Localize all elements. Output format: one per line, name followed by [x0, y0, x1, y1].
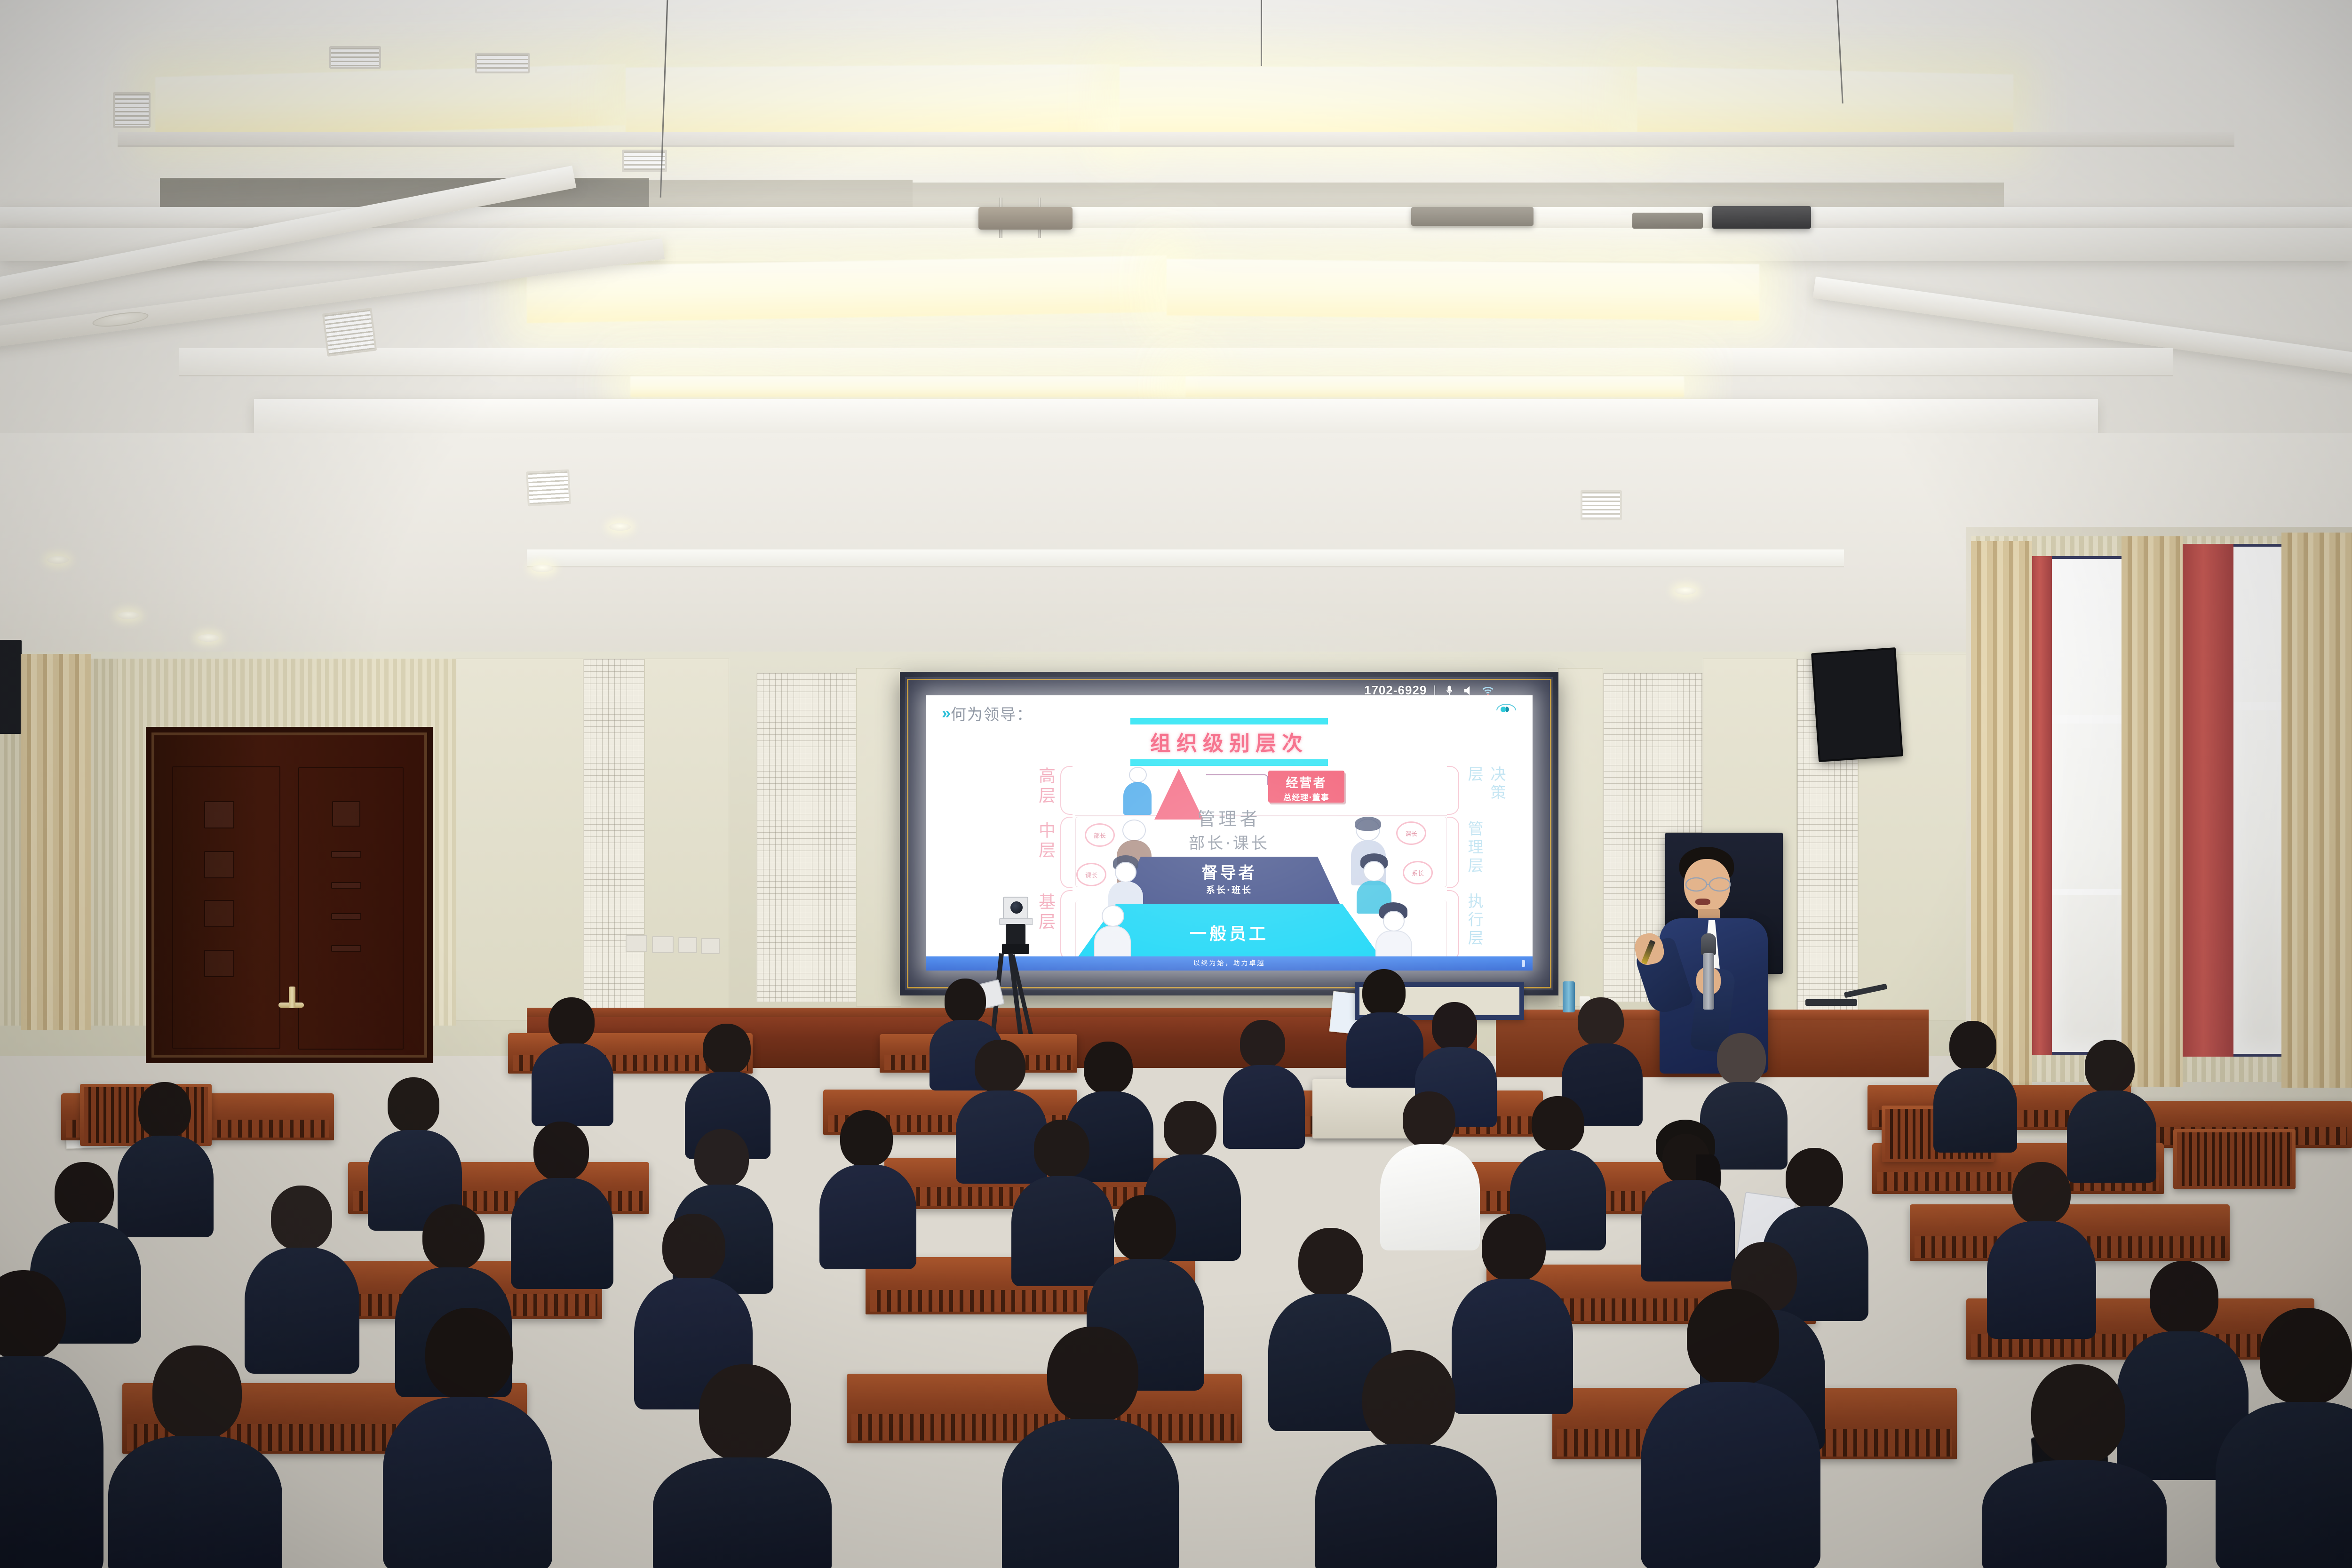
light-switch[interactable]	[652, 936, 674, 953]
light-cove	[1167, 259, 1759, 321]
supervisor-role: 督导者	[926, 860, 1533, 883]
power-outlet[interactable]	[678, 937, 697, 953]
head	[694, 1129, 749, 1187]
figure-body	[1094, 926, 1131, 961]
cartoon-figure-employee-right	[1372, 902, 1415, 961]
door-lockplate[interactable]	[289, 987, 295, 1008]
window-frame	[2027, 556, 2136, 1055]
figure-head	[1115, 862, 1136, 883]
head	[1432, 1002, 1477, 1051]
microphone-head	[1701, 933, 1716, 955]
curtain-left	[21, 654, 91, 1030]
torso	[1315, 1444, 1497, 1568]
camera-lens	[1010, 901, 1023, 914]
head	[533, 1122, 589, 1181]
ceiling-light-fixture	[1712, 206, 1811, 229]
figure-hair	[1355, 817, 1381, 831]
head	[1687, 1289, 1779, 1386]
head	[152, 1345, 242, 1440]
wall-tile-panel	[583, 659, 644, 1021]
door-carving	[332, 801, 360, 827]
coffer-edge	[527, 549, 1844, 567]
ceiling-cable	[1261, 0, 1262, 66]
head	[1034, 1120, 1089, 1178]
torso	[1641, 1180, 1735, 1281]
head	[699, 1364, 791, 1461]
manager-role: 管理者	[926, 804, 1533, 830]
figure-head	[1122, 820, 1146, 841]
pill-bucho: 部长	[1085, 823, 1115, 847]
ceiling-equipment	[1411, 207, 1534, 226]
torso	[1982, 1460, 2167, 1568]
chevron-right-icon: »	[942, 705, 948, 721]
light-cove	[527, 255, 1167, 323]
ceiling-beam	[0, 228, 2352, 261]
torso	[2067, 1090, 2156, 1183]
curtain-right	[2281, 533, 2352, 1088]
torso	[383, 1397, 552, 1568]
torso	[245, 1248, 359, 1374]
microphone-stand	[1805, 999, 1857, 1006]
wall-panel	[1558, 668, 1603, 1007]
ceiling-equipment	[1632, 213, 1703, 229]
curtain-right	[2122, 536, 2183, 1087]
head	[1047, 1327, 1138, 1423]
coffer-edge	[118, 132, 2234, 147]
air-vent	[622, 150, 667, 172]
level-badge-operator: 经营者 总经理·董事	[1268, 771, 1344, 803]
head	[271, 1186, 332, 1250]
window-mullion	[2052, 889, 2133, 895]
torso	[819, 1165, 916, 1269]
level-label-supervisor: 督导者 系长·班长	[926, 860, 1533, 896]
light-cove	[1185, 376, 1684, 397]
head	[1298, 1228, 1363, 1297]
wall-panel	[452, 659, 583, 1021]
coffer-edge	[179, 348, 2173, 376]
slide-footer-marker	[1522, 960, 1525, 967]
tripod-head	[1006, 924, 1025, 945]
head	[55, 1162, 114, 1225]
figure-head	[1102, 905, 1124, 927]
pill-kakaricho: 系长	[1403, 861, 1433, 884]
torso	[1002, 1419, 1179, 1568]
conference-room-scene: 1702-6929 | » 何为领导：	[0, 0, 2352, 1568]
light-cove	[1637, 67, 2013, 141]
air-vent	[113, 92, 151, 128]
air-vent	[526, 470, 571, 507]
torso	[0, 1356, 103, 1568]
chair[interactable]	[2173, 1129, 2296, 1189]
slide-title: 组织级别层次	[1130, 724, 1328, 759]
light-cove	[626, 64, 1120, 138]
torso-white-shirt	[1380, 1144, 1480, 1250]
wall-mounted-display[interactable]	[1811, 647, 1903, 762]
torso	[118, 1136, 214, 1237]
window-frame	[2173, 544, 2291, 1057]
slide-title-block: 组织级别层次	[1130, 718, 1328, 766]
torso	[532, 1043, 613, 1126]
leader-line	[1206, 774, 1268, 785]
title-bar-bottom	[1130, 759, 1328, 766]
supervisor-titles: 系长·班长	[926, 883, 1533, 896]
torso	[2216, 1402, 2352, 1568]
torso	[1346, 1012, 1423, 1088]
light-cove	[1120, 67, 1637, 138]
air-vent	[1581, 490, 1622, 520]
window-mullion	[2052, 715, 2133, 724]
operator-role: 经营者	[1268, 773, 1344, 791]
door-carving	[331, 913, 361, 920]
air-vent	[329, 46, 381, 69]
torso	[1011, 1176, 1114, 1286]
door-carving	[331, 851, 361, 858]
glasses-icon	[1683, 877, 1732, 892]
head	[703, 1024, 751, 1075]
air-vent	[322, 308, 377, 357]
head	[1114, 1195, 1176, 1262]
wall-panel	[644, 659, 729, 1021]
head	[1949, 1021, 1996, 1071]
chair-slats	[2177, 1132, 2292, 1186]
slide-header: » 何为领导：	[942, 702, 1033, 724]
head	[1578, 997, 1624, 1046]
head	[1532, 1096, 1584, 1152]
power-outlet[interactable]	[701, 938, 720, 954]
head	[840, 1110, 893, 1167]
torso	[1223, 1065, 1305, 1149]
door-carving	[204, 801, 234, 828]
title-bar-top	[1130, 718, 1328, 724]
head	[548, 997, 595, 1046]
head	[975, 1040, 1025, 1093]
torso	[1452, 1279, 1573, 1414]
torso	[1987, 1221, 2096, 1339]
head	[422, 1204, 485, 1270]
tripod-collar	[1002, 944, 1029, 954]
figure-head	[1129, 767, 1147, 783]
brand-logo-icon	[1494, 701, 1518, 717]
window	[2052, 559, 2133, 1052]
pill-kacho: 课长	[1396, 821, 1426, 845]
head	[1362, 969, 1406, 1016]
downlight	[198, 634, 219, 642]
torso	[653, 1457, 832, 1568]
head	[2150, 1261, 2218, 1334]
downlight	[532, 565, 553, 572]
head	[425, 1308, 513, 1400]
air-vent	[475, 53, 530, 73]
torso	[1641, 1382, 1820, 1568]
head	[2012, 1162, 2071, 1224]
downlight	[118, 612, 139, 619]
projector	[978, 207, 1073, 230]
operator-titles: 总经理·董事	[1268, 791, 1344, 803]
light-switch[interactable]	[626, 935, 647, 952]
door-carving	[331, 882, 361, 889]
torso	[1933, 1068, 2017, 1153]
downlight	[609, 523, 631, 531]
loudspeaker-left	[0, 640, 22, 734]
slide-header-text: 何为领导：	[951, 702, 1033, 724]
slide-footer-text: 以终为始，助力卓越	[1193, 960, 1265, 967]
head	[2260, 1308, 2352, 1405]
head	[388, 1077, 439, 1133]
level-label-manager: 管理者 部长·课长	[926, 804, 1533, 853]
cartoon-figure-employee-left	[1091, 905, 1134, 961]
torso	[956, 1090, 1047, 1184]
manager-titles: 部长·课长	[926, 830, 1533, 853]
head	[2085, 1040, 2135, 1093]
downlight	[47, 556, 69, 564]
head	[1240, 1020, 1285, 1068]
torso	[511, 1178, 613, 1289]
figure-head	[1383, 911, 1405, 931]
wall-panel	[856, 668, 901, 1007]
head	[1362, 1350, 1455, 1448]
microphone-body	[1703, 953, 1714, 1010]
head-balding	[1717, 1033, 1766, 1085]
entrance-door[interactable]	[146, 727, 433, 1063]
presenter-mouth	[1695, 899, 1710, 905]
wall-tile-panel	[756, 673, 856, 1002]
head	[1786, 1148, 1843, 1209]
head	[1084, 1042, 1133, 1094]
door-carving	[204, 950, 234, 977]
door-carving	[204, 900, 234, 927]
figure-head	[1363, 861, 1385, 882]
torso	[108, 1436, 282, 1568]
door-carving	[331, 945, 361, 952]
downlight	[1675, 587, 1696, 595]
head	[1164, 1101, 1216, 1156]
head	[945, 979, 986, 1024]
head	[2031, 1364, 2125, 1464]
light-cove	[630, 376, 1185, 397]
head	[1403, 1091, 1455, 1148]
head	[138, 1082, 191, 1138]
pill-kacho-2: 课长	[1076, 863, 1106, 886]
head	[1482, 1214, 1546, 1281]
door-carving	[204, 851, 234, 878]
thermos	[1563, 981, 1575, 1012]
head	[662, 1214, 725, 1281]
curtain-right	[1971, 541, 2032, 1087]
ceiling-beam	[254, 399, 2098, 434]
